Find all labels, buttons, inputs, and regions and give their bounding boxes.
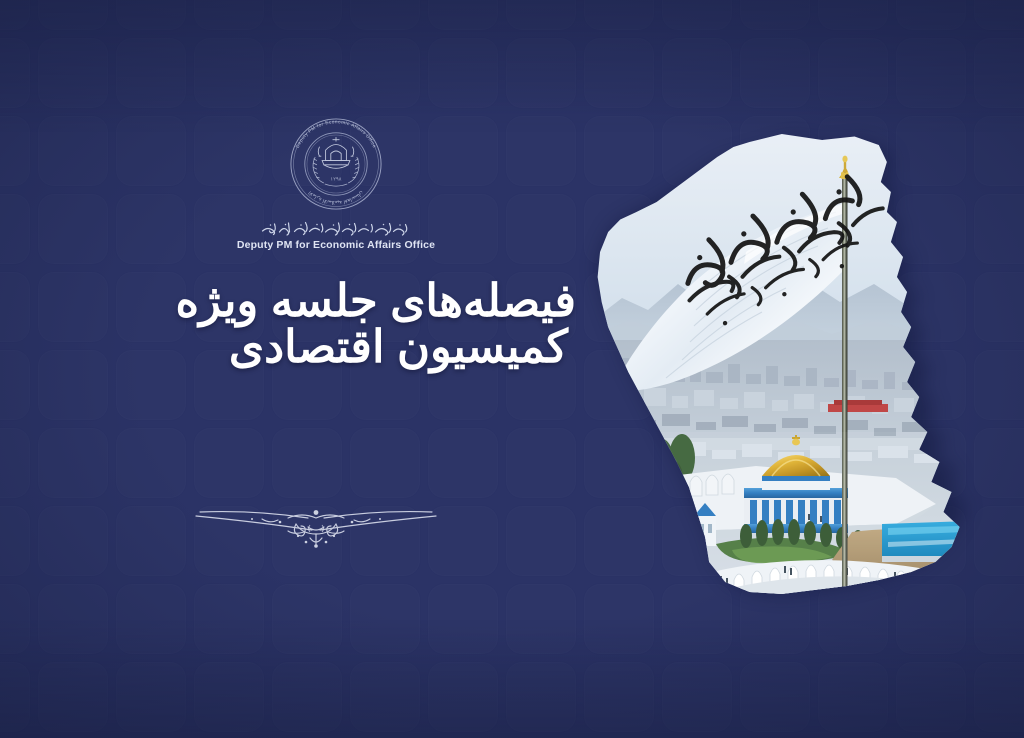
- red-roof: [828, 404, 888, 412]
- poster-root: Deputy PM for Economic Affairs Office ال…: [0, 0, 1024, 738]
- page-title: فیصله‌های جلسه ویژه کمیسیون اقتصادی: [60, 278, 580, 370]
- emblem-english-title: Deputy PM for Economic Affairs Office: [228, 239, 444, 251]
- state-emblem-seal-icon: Deputy PM for Economic Affairs Office ال…: [284, 112, 388, 216]
- emblem-block: Deputy PM for Economic Affairs Office ال…: [228, 112, 444, 251]
- page-title-line-1: فیصله‌های جلسه ویژه: [60, 278, 580, 324]
- page-title-line-2: کمیسیون اقتصادی: [60, 324, 580, 370]
- decorative-flourish-divider-icon: [192, 492, 440, 558]
- photo-collage: [596, 132, 1000, 632]
- svg-text:الامارة الاسلامية افغانستان: الامارة الاسلامية افغانستان: [307, 189, 364, 205]
- emblem-dari-calligraphy-icon: [228, 218, 444, 238]
- svg-text:١٢٩٨: ١٢٩٨: [330, 176, 341, 182]
